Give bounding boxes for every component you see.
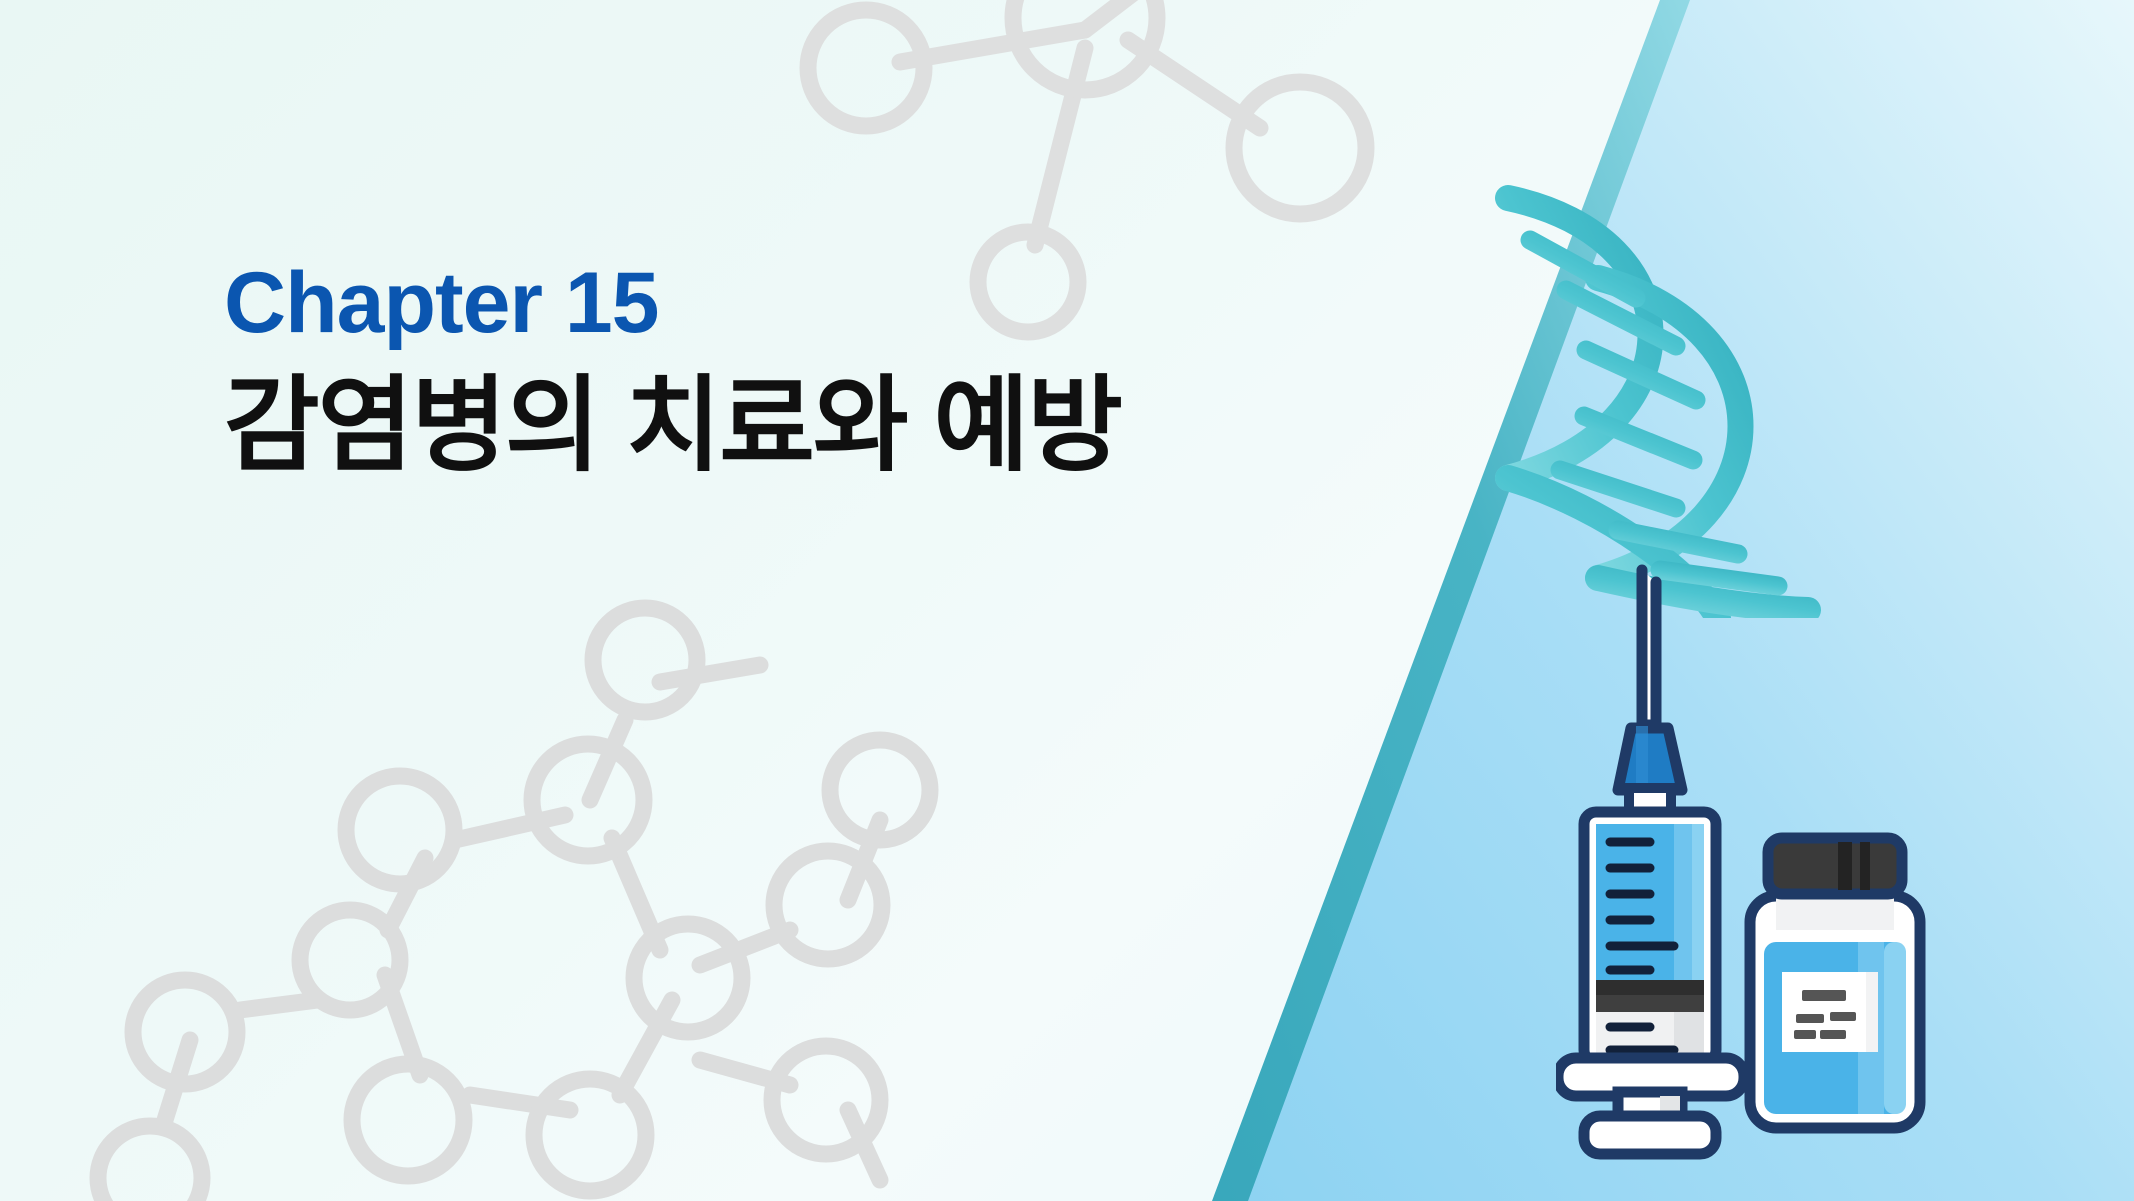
title-block: Chapter 15 감염병의 치료와 예방: [224, 258, 1121, 483]
chapter-title-slide: Chapter 15 감염병의 치료와 예방: [0, 0, 2134, 1201]
medicine-vial-icon: [1742, 824, 1928, 1136]
syringe-icon: [1556, 540, 1746, 1160]
chapter-label: Chapter 15: [224, 258, 1121, 348]
chapter-subtitle: 감염병의 치료와 예방: [224, 370, 1121, 482]
